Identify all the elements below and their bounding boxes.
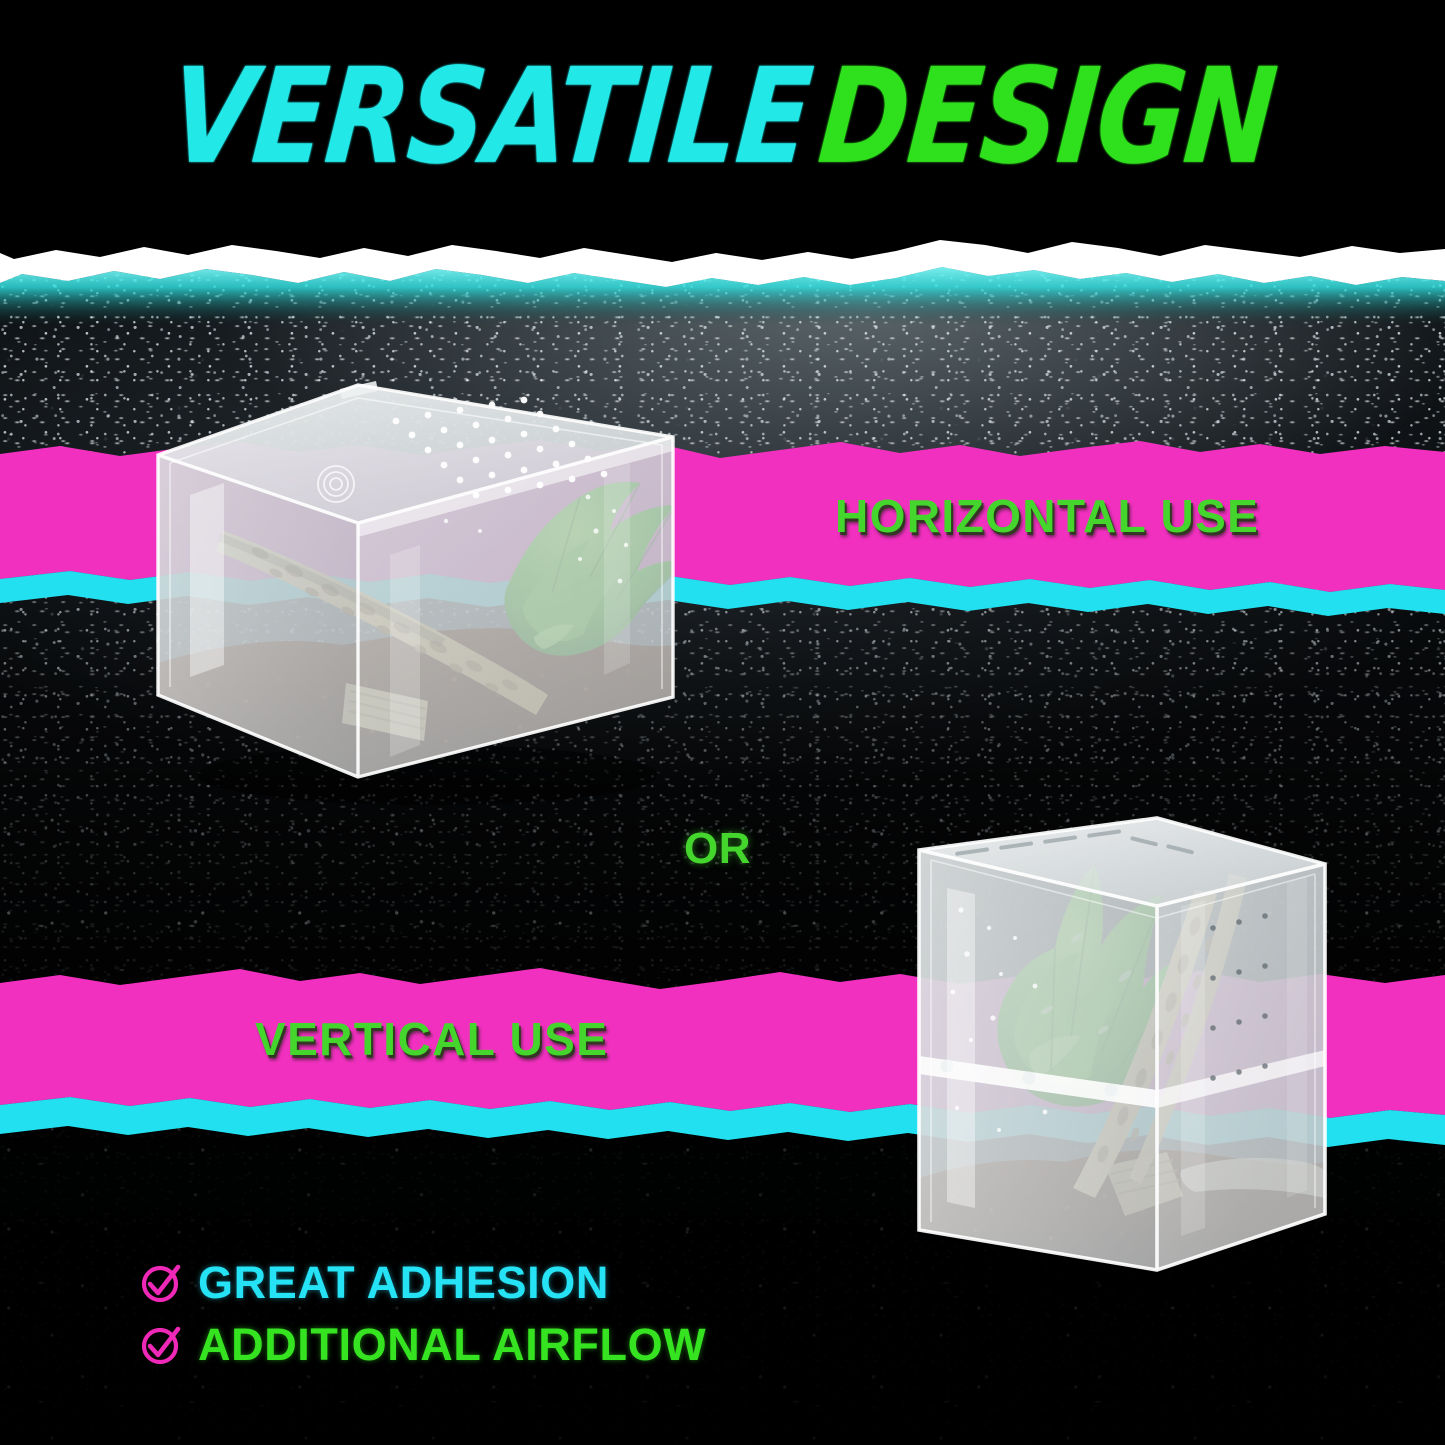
banner-horizontal-label: HORIZONTAL USE — [835, 489, 1259, 543]
poster-canvas: VERSATILEDESIGN HORIZONTAL US — [0, 0, 1445, 1445]
feature-label-great-adhesion: GREAT ADHESION — [198, 1257, 609, 1309]
check-circle-icon — [138, 1322, 184, 1368]
product-image-horizontal-enclosure — [128, 345, 698, 825]
or-separator-label: OR — [684, 824, 751, 874]
page-title: VERSATILEDESIGN — [165, 52, 1280, 184]
rail-knob — [1023, 1072, 1036, 1085]
title-word-versatile: VERSATILE — [164, 41, 816, 194]
feature-list: GREAT ADHESION ADDITIONAL AIRFLOW — [138, 1252, 706, 1376]
banner-vertical-label: VERTICAL USE — [255, 1012, 608, 1066]
check-circle-icon — [138, 1260, 184, 1306]
title-band: VERSATILEDESIGN — [0, 0, 1445, 232]
title-word-design: DESIGN — [813, 41, 1281, 194]
list-item: ADDITIONAL AIRFLOW — [138, 1314, 706, 1376]
list-item: GREAT ADHESION — [138, 1252, 706, 1314]
horizontal-enclosure-svg — [128, 345, 698, 825]
feature-label-additional-airflow: ADDITIONAL AIRFLOW — [198, 1319, 706, 1371]
vertical-enclosure-svg — [895, 778, 1345, 1303]
product-image-vertical-enclosure — [895, 778, 1345, 1303]
rail-knob — [1105, 1084, 1118, 1097]
